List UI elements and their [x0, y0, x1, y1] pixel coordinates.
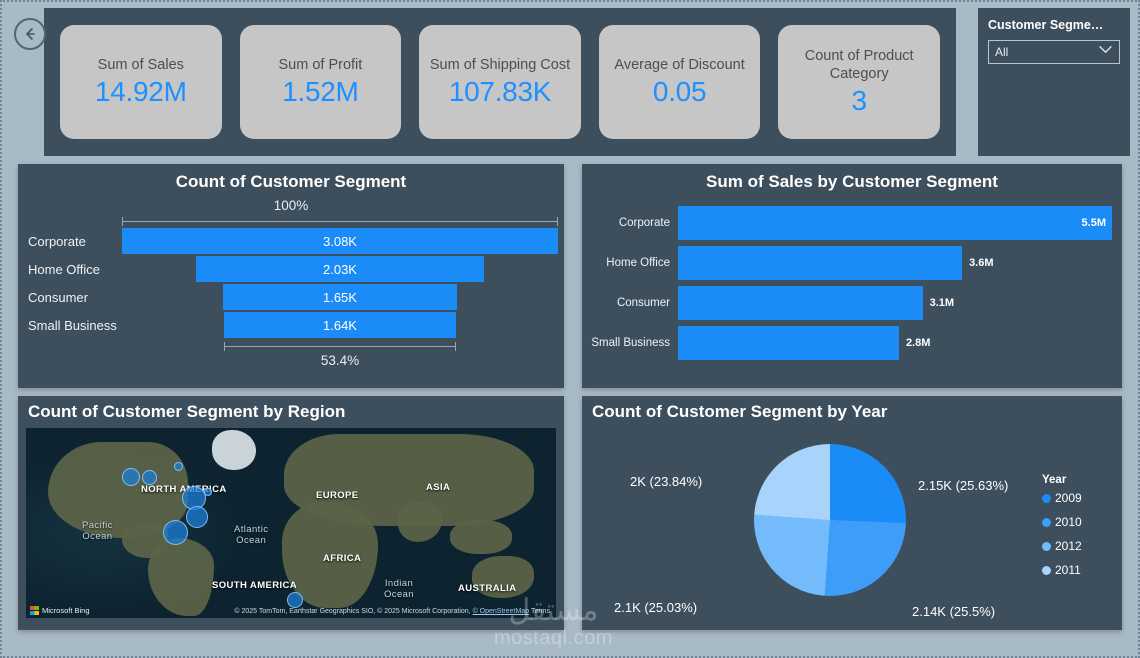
bar-value-label: 3.6M — [969, 257, 993, 269]
funnel-row-category: Home Office — [18, 262, 122, 277]
funnel-chart-panel[interactable]: Count of Customer Segment 100% Corporate… — [18, 164, 564, 388]
funnel-rows: Corporate3.08KHome Office2.03KConsumer1.… — [18, 228, 564, 338]
bar-row[interactable]: Home Office3.6M — [590, 246, 1112, 280]
bar-row-category: Corporate — [590, 217, 678, 229]
funnel-chart-body: 100% Corporate3.08KHome Office2.03KConsu… — [18, 192, 564, 382]
bar-row[interactable]: Consumer3.1M — [590, 286, 1112, 320]
legend-color-swatch — [1042, 542, 1051, 551]
funnel-row[interactable]: Corporate3.08K — [18, 228, 564, 254]
landmass-india — [398, 502, 442, 542]
map-bubble[interactable] — [174, 462, 183, 471]
bar-fill[interactable] — [678, 286, 923, 320]
pie-label-2011: 2K (23.84%) — [630, 474, 702, 489]
pie-legend-item[interactable]: 2009 — [1042, 491, 1114, 505]
customer-segment-slicer[interactable]: Customer Segme… All — [978, 8, 1130, 156]
funnel-row-track: 2.03K — [122, 256, 476, 282]
kpi-label: Sum of Profit — [278, 56, 362, 74]
kpi-label: Average of Discount — [614, 56, 744, 74]
bar-row-track: 2.8M — [678, 326, 1112, 360]
slicer-dropdown[interactable]: All — [988, 40, 1120, 64]
bar-chart-title: Sum of Sales by Customer Segment — [582, 164, 1122, 192]
map-bubble[interactable] — [163, 520, 188, 545]
funnel-row-category: Corporate — [18, 234, 122, 249]
bar-row-track: 5.5M — [678, 206, 1112, 240]
pie-label-2009: 2.15K (25.63%) — [918, 478, 1008, 493]
watermark-domain: mostaql.com — [494, 628, 613, 648]
slicer-selected-value: All — [995, 45, 1008, 59]
map-title: Count of Customer Segment by Region — [18, 396, 564, 428]
map-label-indian-ocean: IndianOcean — [384, 578, 414, 600]
chevron-down-icon[interactable] — [1099, 45, 1112, 57]
map-label-atlantic-ocean: AtlanticOcean — [234, 524, 268, 546]
map-label-europe: EUROPE — [316, 490, 359, 501]
kpi-value: 107.83K — [449, 76, 551, 108]
map-bubble[interactable] — [204, 488, 212, 496]
funnel-row-track: 1.64K — [122, 312, 476, 338]
pie-legend-item[interactable]: 2012 — [1042, 539, 1114, 553]
funnel-top-percent: 100% — [18, 198, 564, 213]
map-label-asia: ASIA — [426, 482, 450, 493]
bar-row-track: 3.1M — [678, 286, 1112, 320]
bar-value-label: 5.5M — [1082, 217, 1112, 229]
kpi-label: Sum of Shipping Cost — [430, 56, 570, 74]
map-bubble[interactable] — [122, 468, 140, 486]
pie-legend: Year 2009201020122011 — [1042, 474, 1114, 587]
bar-row-category: Consumer — [590, 297, 678, 309]
pie-label-2012: 2.1K (25.03%) — [614, 600, 697, 615]
bing-logo-badge: Microsoft Bing — [30, 606, 90, 615]
pie-legend-items: 2009201020122011 — [1042, 491, 1114, 577]
bar-row[interactable]: Small Business2.8M — [590, 326, 1112, 360]
funnel-bar[interactable]: 1.64K — [224, 312, 456, 338]
kpi-card[interactable]: Sum of Profit1.52M — [240, 25, 402, 139]
year-pie-chart-panel[interactable]: Count of Customer Segment by Year 2.15K … — [582, 396, 1122, 630]
kpi-card[interactable]: Average of Discount0.05 — [599, 25, 761, 139]
legend-label: 2010 — [1055, 515, 1082, 529]
pie-label-2010: 2.14K (25.5%) — [912, 604, 995, 619]
map-attribution: © 2025 TomTom, Earthstar Geographics SIO… — [234, 608, 550, 615]
map-terms-link[interactable]: Terms — [531, 608, 550, 615]
map-label-south-america: SOUTH AMERICA — [212, 580, 297, 591]
funnel-row[interactable]: Home Office2.03K — [18, 256, 564, 282]
landmass-south-america — [148, 538, 214, 616]
map-attribution-text: © 2025 TomTom, Earthstar Geographics SIO… — [234, 608, 472, 615]
legend-label: 2009 — [1055, 491, 1082, 505]
map-bubble[interactable] — [287, 592, 303, 608]
pie-legend-item[interactable]: 2011 — [1042, 563, 1114, 577]
kpi-header-band: Sum of Sales14.92MSum of Profit1.52MSum … — [44, 8, 956, 156]
kpi-value: 14.92M — [95, 76, 187, 108]
legend-label: 2011 — [1055, 563, 1081, 577]
map-label-australia: AUSTRALIA — [458, 583, 517, 594]
pie-chart-title: Count of Customer Segment by Year — [582, 396, 1122, 422]
funnel-row[interactable]: Small Business1.64K — [18, 312, 564, 338]
openstreetmap-link[interactable]: © OpenStreetMap — [473, 608, 530, 615]
funnel-row-track: 3.08K — [122, 228, 476, 254]
funnel-row[interactable]: Consumer1.65K — [18, 284, 564, 310]
slicer-title: Customer Segme… — [988, 18, 1120, 32]
map-canvas[interactable]: NORTH AMERICA EUROPE ASIA AFRICA SOUTH A… — [26, 428, 556, 618]
pie-chart-body: 2.15K (25.63%) 2.14K (25.5%) 2.1K (25.03… — [582, 422, 1122, 618]
bar-value-label: 3.1M — [930, 297, 954, 309]
region-map-panel[interactable]: Count of Customer Segment by Region NORT… — [18, 396, 564, 630]
kpi-card[interactable]: Sum of Sales14.92M — [60, 25, 222, 139]
bar-row-track: 3.6M — [678, 246, 1112, 280]
funnel-bottom-bracket — [224, 342, 456, 351]
kpi-label: Count of Product Category — [786, 47, 931, 83]
landmass-southeast-asia — [450, 520, 512, 554]
funnel-top-bracket — [122, 217, 558, 226]
bar-row[interactable]: Corporate5.5M — [590, 206, 1112, 240]
bar-fill[interactable]: 5.5M — [678, 206, 1112, 240]
pie-slices[interactable] — [754, 444, 906, 596]
funnel-bar[interactable]: 1.65K — [223, 284, 457, 310]
bar-row-category: Home Office — [590, 257, 678, 269]
microsoft-logo-icon — [30, 606, 39, 615]
kpi-row: Sum of Sales14.92MSum of Profit1.52MSum … — [44, 8, 956, 156]
legend-color-swatch — [1042, 494, 1051, 503]
funnel-bottom-percent: 53.4% — [224, 353, 456, 368]
kpi-value: 3 — [852, 85, 867, 117]
funnel-row-category: Consumer — [18, 290, 122, 305]
bar-row-category: Small Business — [590, 337, 678, 349]
kpi-value: 1.52M — [282, 76, 358, 108]
legend-color-swatch — [1042, 566, 1051, 575]
kpi-value: 0.05 — [653, 76, 706, 108]
map-provider-label: Microsoft Bing — [42, 606, 90, 615]
funnel-row-category: Small Business — [18, 318, 122, 333]
legend-color-swatch — [1042, 518, 1051, 527]
funnel-bar[interactable]: 3.08K — [122, 228, 558, 254]
landmass-greenland — [212, 430, 256, 470]
map-bubble[interactable] — [186, 506, 208, 528]
kpi-card[interactable]: Sum of Shipping Cost107.83K — [419, 25, 581, 139]
dashboard-page: Sum of Sales14.92MSum of Profit1.52MSum … — [0, 0, 1140, 658]
bar-fill[interactable] — [678, 326, 899, 360]
funnel-bar[interactable]: 2.03K — [196, 256, 483, 282]
kpi-label: Sum of Sales — [98, 56, 184, 74]
map-label-africa: AFRICA — [323, 553, 361, 564]
legend-label: 2012 — [1055, 539, 1082, 553]
bar-fill[interactable] — [678, 246, 962, 280]
bar-value-label: 2.8M — [906, 337, 930, 349]
kpi-card[interactable]: Count of Product Category3 — [778, 25, 940, 139]
back-arrow-icon[interactable] — [14, 18, 46, 50]
pie-legend-item[interactable]: 2010 — [1042, 515, 1114, 529]
funnel-row-track: 1.65K — [122, 284, 476, 310]
bar-chart-body: Corporate5.5MHome Office3.6MConsumer3.1M… — [582, 192, 1122, 374]
map-bubble[interactable] — [142, 470, 157, 485]
map-label-pacific-ocean: PacificOcean — [82, 520, 113, 542]
pie-legend-title: Year — [1042, 474, 1114, 486]
funnel-chart-title: Count of Customer Segment — [18, 164, 564, 192]
sales-bar-chart-panel[interactable]: Sum of Sales by Customer Segment Corpora… — [582, 164, 1122, 388]
